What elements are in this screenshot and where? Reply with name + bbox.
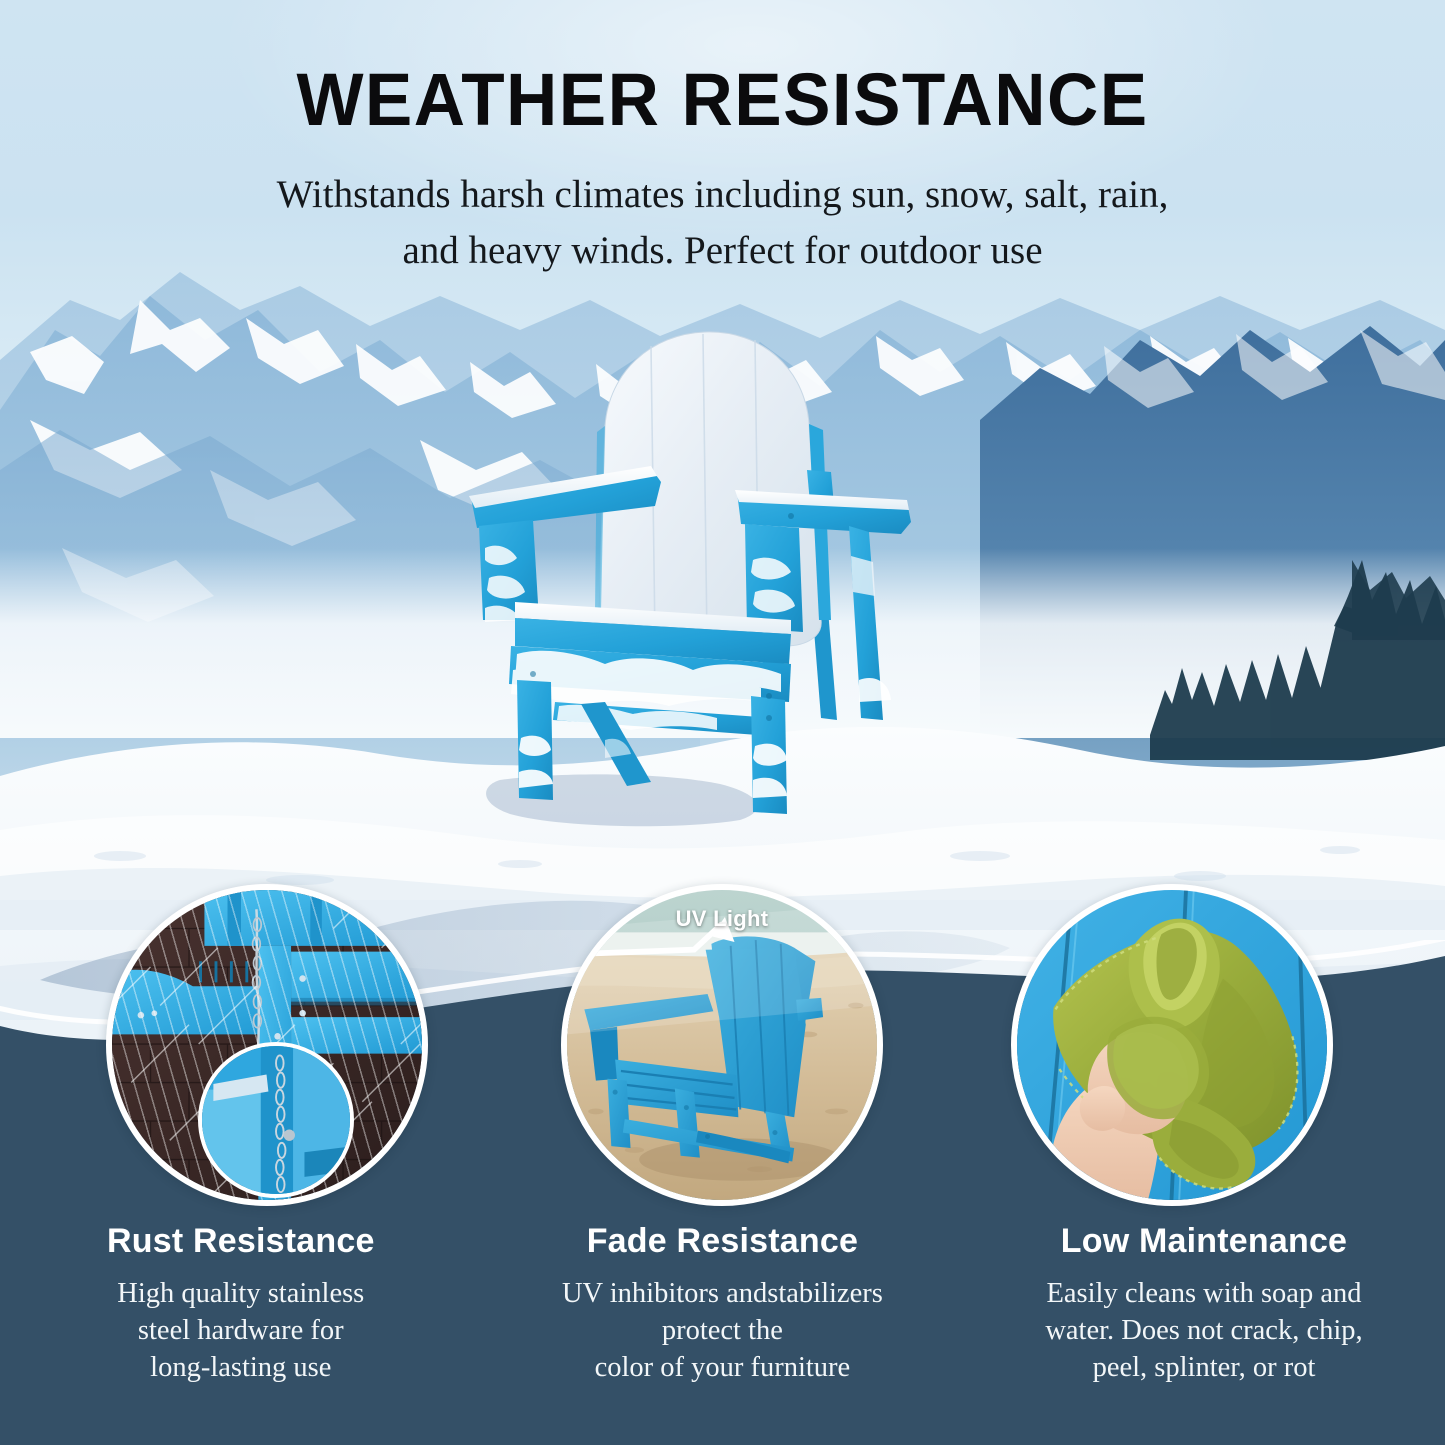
feature-title-fade-resistance: Fade Resistance [500,1222,946,1261]
feature-image-fade-resistance: UV Light [561,884,883,1206]
feature-rust-resistance: Rust Resistance High quality stainless s… [0,1222,482,1386]
desc-line: water. Does not crack, chip, [981,1312,1427,1349]
header-block: WEATHER RESISTANCE Withstands harsh clim… [0,62,1445,278]
desc-line: peel, splinter, or rot [981,1349,1427,1386]
feature-fade-resistance: Fade Resistance UV inhibitors andstabili… [482,1222,964,1386]
infographic-canvas: WEATHER RESISTANCE Withstands harsh clim… [0,0,1445,1445]
desc-line: UV inhibitors andstabilizers [500,1275,946,1312]
feature-image-low-maintenance [1011,884,1333,1206]
desc-line: High quality stainless [18,1275,464,1312]
chain-closeup-inset [198,1042,354,1198]
feature-image-rust-resistance [106,884,428,1206]
desc-line: protect the [500,1312,946,1349]
subtitle-line-1: Withstands harsh climates including sun,… [0,167,1445,222]
feature-title-low-maintenance: Low Maintenance [981,1222,1427,1261]
page-subtitle: Withstands harsh climates including sun,… [0,167,1445,278]
page-title: WEATHER RESISTANCE [29,62,1416,137]
feature-low-maintenance: Low Maintenance Easily cleans with soap … [963,1222,1445,1386]
desc-line: Easily cleans with soap and [981,1275,1427,1312]
desc-line: color of your furniture [500,1349,946,1386]
feature-title-rust-resistance: Rust Resistance [18,1222,464,1261]
feature-description-low-maintenance: Easily cleans with soap and water. Does … [981,1275,1427,1386]
feature-description-fade-resistance: UV inhibitors andstabilizers protect the… [500,1275,946,1386]
uv-light-label: UV Light [567,906,877,932]
desc-line: steel hardware for [18,1312,464,1349]
feature-text-row: Rust Resistance High quality stainless s… [0,1222,1445,1386]
desc-line: long-lasting use [18,1349,464,1386]
subtitle-line-2: and heavy winds. Perfect for outdoor use [0,223,1445,278]
feature-description-rust-resistance: High quality stainless steel hardware fo… [18,1275,464,1386]
